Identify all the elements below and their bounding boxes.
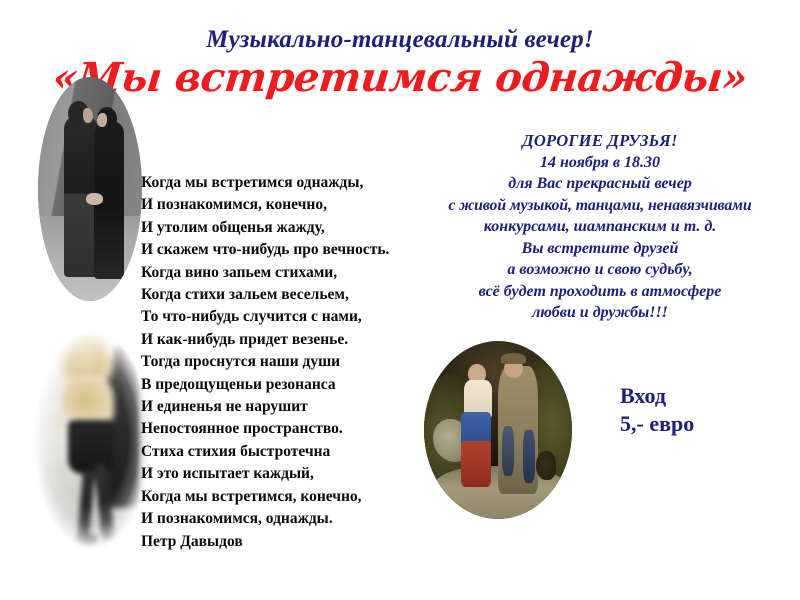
poster-canvas: Музыкально-танцевальный вечер! «Мы встре… <box>0 0 800 600</box>
poem-line: И утолим общенья жажду, <box>141 217 441 239</box>
poem-block: Когда мы встретимся однажды, И познакоми… <box>141 172 441 553</box>
figure-joined-hands <box>86 193 103 205</box>
poster-headline-primary: Музыкально-танцевальный вечер! <box>0 26 800 54</box>
photo-couple-standing <box>38 77 142 301</box>
announcement-greeting: ДОРОГИЕ ДРУЗЬЯ! <box>400 130 800 152</box>
entry-price: 5,- евро <box>620 410 694 438</box>
poem-line: И познакомимся, конечно, <box>141 194 441 216</box>
announcement-line: а возможно и свою судьбу, <box>400 259 800 281</box>
poem-line: И это испытает каждый, <box>141 463 441 485</box>
painting-woman-skirt <box>461 441 491 487</box>
painting-man-leg-left <box>502 426 514 476</box>
poem-line: Непостоянное пространство. <box>141 418 441 440</box>
announcement-line: Вы встретите друзей <box>400 238 800 260</box>
figure-woman-face <box>97 113 107 127</box>
painting-dog <box>536 451 555 479</box>
poem-line: Когда мы встретимся, конечно, <box>141 486 441 508</box>
announcement-line: с живой музыкой, танцами, ненавязчивами <box>400 195 800 217</box>
poem-line: И как-нибудь придет везенье. <box>141 329 441 351</box>
figure-dancer-woman-skirt <box>68 420 114 474</box>
poem-line: Когда мы встретимся однажды, <box>141 172 441 194</box>
poem-line: Когда вино запьем стихами, <box>141 262 441 284</box>
poem-line: То что-нибудь случится с нами, <box>141 306 441 328</box>
entry-price-block: Вход 5,- евро <box>620 382 694 438</box>
poem-line: И познакомимся, однажды. <box>141 508 441 530</box>
poem-line: В предощущеньи резонанса <box>141 374 441 396</box>
entry-label: Вход <box>620 382 694 410</box>
announcement-line: конкурсами, шампанским и т. д. <box>400 216 800 238</box>
photo-blurred-dancers <box>28 322 156 558</box>
announcement-block: ДОРОГИЕ ДРУЗЬЯ! 14 ноября в 18.30 для Ва… <box>400 130 800 324</box>
figure-man-face <box>83 108 93 123</box>
painting-man-hat <box>501 353 526 364</box>
figure-dancer-shoe <box>76 534 98 546</box>
announcement-line: любви и дружбы!!! <box>400 302 800 324</box>
painting-man-leg-right <box>523 430 535 483</box>
poem-line: Когда стихи зальем весельем, <box>141 284 441 306</box>
poem-author: Петр Давыдов <box>141 531 441 553</box>
announcement-line: всё будет проходить в атмосфере <box>400 281 800 303</box>
figure-dancer-man-head <box>114 344 132 364</box>
poem-line: И скажем что-нибудь про вечность. <box>141 239 441 261</box>
photo-oil-painting-couple <box>424 341 572 519</box>
poem-line: Тогда проснутся наши души <box>141 351 441 373</box>
poem-line: Стиха стихия быстротечна <box>141 441 441 463</box>
poem-line: И единенья не нарушит <box>141 396 441 418</box>
announcement-datetime: 14 ноября в 18.30 <box>400 152 800 174</box>
announcement-line: для Вас прекрасный вечер <box>400 173 800 195</box>
